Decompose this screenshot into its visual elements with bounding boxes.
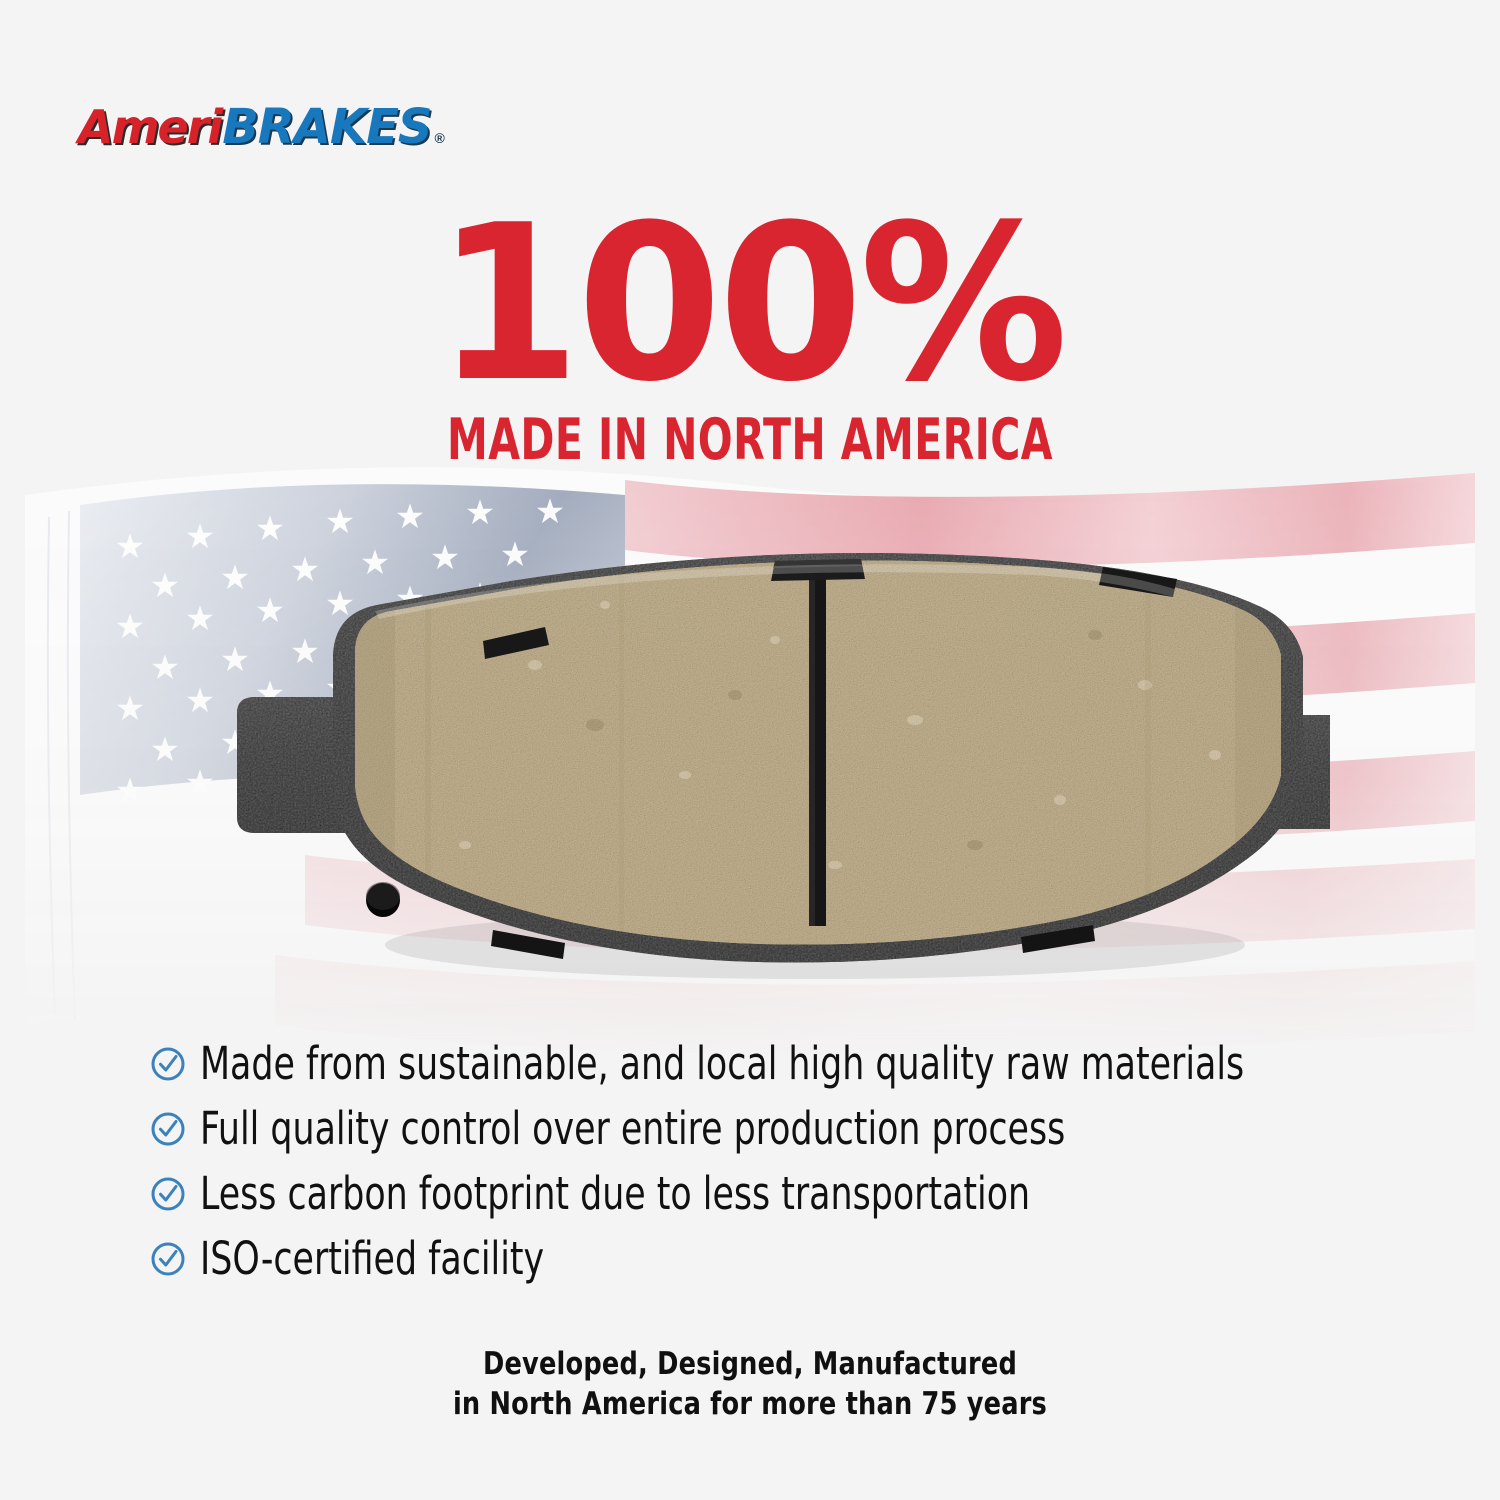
check-circle-icon (150, 1046, 186, 1082)
headline-block: 100% MADE IN NORTH AMERICA (0, 205, 1500, 473)
feature-text: ISO-certified facility (200, 1236, 544, 1281)
feature-text: Made from sustainable, and local high qu… (200, 1041, 1244, 1086)
footer-block: Developed, Designed, Manufactured in Nor… (0, 1345, 1500, 1424)
list-item: Less carbon footprint due to less transp… (150, 1166, 1400, 1221)
brand-logo[interactable]: AmeriBRAKES® (78, 103, 444, 151)
feature-text: Less carbon footprint due to less transp… (200, 1171, 1030, 1216)
headline-subtitle: MADE IN NORTH AMERICA (150, 407, 1350, 473)
brake-pad-product-image (215, 545, 1330, 985)
feature-list: Made from sustainable, and local high qu… (150, 1036, 1400, 1296)
list-item: Full quality control over entire product… (150, 1101, 1400, 1156)
footer-line-1: Developed, Designed, Manufactured (60, 1345, 1440, 1385)
brake-pad-illustration (215, 545, 1330, 985)
promo-banner: AmeriBRAKES® 100% MADE IN NORTH AMERICA (0, 0, 1500, 1500)
feature-text: Full quality control over entire product… (200, 1106, 1065, 1151)
logo-text-ameri: Ameri (78, 104, 221, 150)
check-circle-icon (150, 1111, 186, 1147)
list-item: ISO-certified facility (150, 1231, 1400, 1286)
logo-text-brakes: BRAKES (222, 103, 431, 151)
list-item: Made from sustainable, and local high qu… (150, 1036, 1400, 1091)
footer-line-2: in North America for more than 75 years (60, 1385, 1440, 1425)
headline-percent: 100% (23, 205, 1478, 403)
registered-trademark-icon: ® (434, 131, 443, 145)
check-circle-icon (150, 1241, 186, 1277)
check-circle-icon (150, 1176, 186, 1212)
